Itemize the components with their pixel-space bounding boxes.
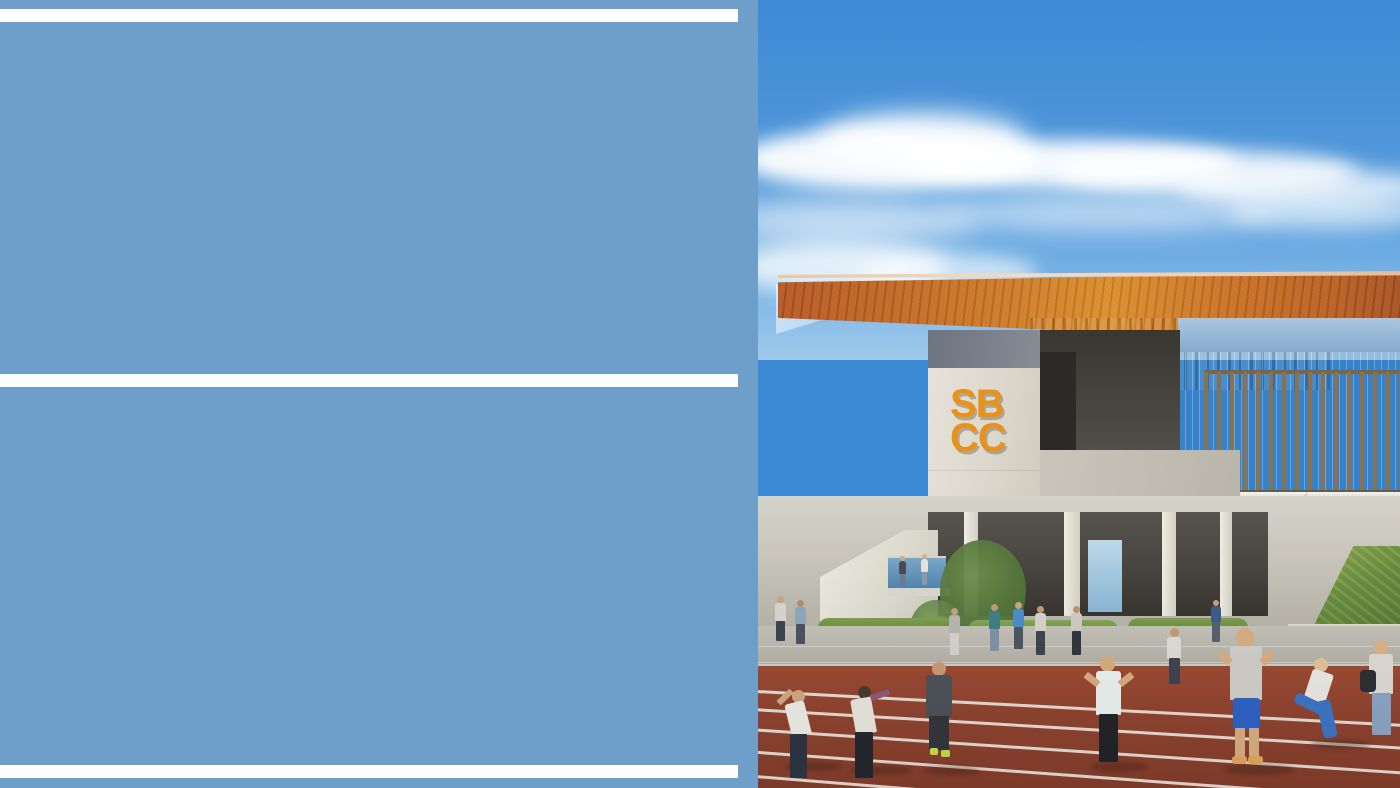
structural-column — [1162, 512, 1176, 616]
pier-seam — [928, 470, 1040, 471]
rule-top — [0, 9, 738, 22]
overlook-viewing-box — [888, 556, 946, 592]
glass-opening — [1088, 540, 1122, 612]
poster-canvas: SB CC — [0, 0, 1400, 788]
building-rendering: SB CC — [758, 0, 1400, 788]
structural-column — [1220, 512, 1232, 616]
glass-upper-band — [1178, 318, 1400, 352]
structural-column — [1064, 512, 1080, 616]
rule-middle — [0, 374, 738, 387]
sbcc-logo: SB CC — [950, 388, 1006, 455]
text-panel — [0, 0, 758, 788]
sbcc-logo-line2: CC — [950, 422, 1006, 456]
rule-bottom — [0, 765, 738, 778]
cloud-shape — [938, 196, 1278, 230]
pier-top-band — [928, 330, 1040, 368]
